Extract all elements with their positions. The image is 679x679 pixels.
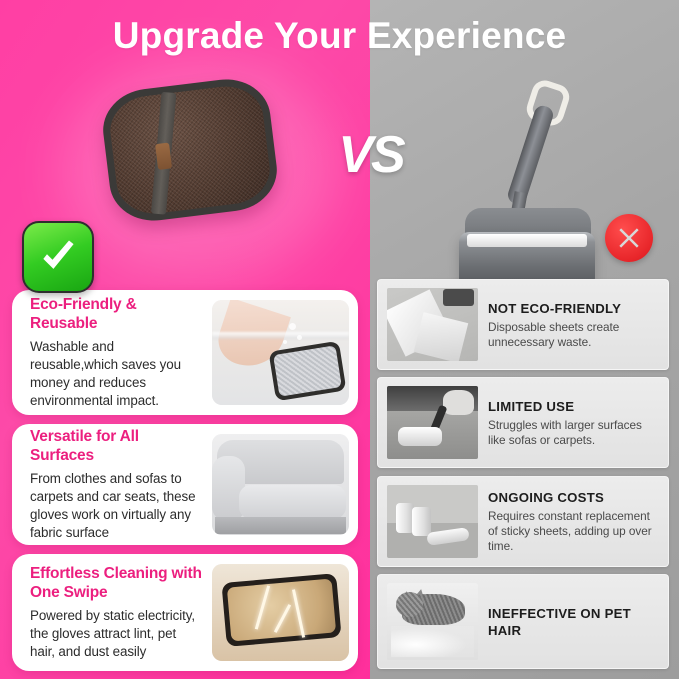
x-icon <box>605 214 653 262</box>
con-card-title: NOT ECO-FRIENDLY <box>488 300 656 317</box>
pro-card-title: Effortless Cleaning with One Swipe <box>30 564 204 602</box>
con-card-title: ONGOING COSTS <box>488 489 656 506</box>
lint-roller-on-carpet-photo <box>387 386 478 459</box>
con-card-text: NOT ECO-FRIENDLY Disposable sheets creat… <box>488 300 668 350</box>
gray-fabric-sofa-photo <box>212 434 349 535</box>
con-card-body: Disposable sheets create unnecessary was… <box>488 320 656 350</box>
pro-card-text: Versatile for All Surfaces From clothes … <box>12 424 212 545</box>
con-card: NOT ECO-FRIENDLY Disposable sheets creat… <box>377 279 669 370</box>
con-card: INEFFECTIVE ON PET HAIR <box>377 574 669 669</box>
pro-card: Eco-Friendly & Reusable Washable and reu… <box>12 290 358 415</box>
con-card-body: Struggles with larger surfaces like sofa… <box>488 418 656 448</box>
con-card-text: ONGOING COSTS Requires constant replacem… <box>488 489 668 554</box>
pro-card-body: Washable and reusable,which saves you mo… <box>30 338 204 410</box>
glove-body <box>99 74 282 225</box>
roller-sheet-edge <box>467 234 587 247</box>
cat-on-shedding-fur-photo <box>387 583 478 660</box>
con-card-body: Requires constant replacement of sticky … <box>488 509 656 554</box>
pro-card-title: Versatile for All Surfaces <box>30 427 204 465</box>
product-image-lint-roller <box>455 82 605 257</box>
pro-card: Versatile for All Surfaces From clothes … <box>12 424 358 545</box>
refill-roller-tubes-photo <box>387 485 478 558</box>
pro-card-text: Eco-Friendly & Reusable Washable and reu… <box>12 290 212 415</box>
con-card-text: LIMITED USE Struggles with larger surfac… <box>488 398 668 448</box>
pro-card: Effortless Cleaning with One Swipe Power… <box>12 554 358 671</box>
pro-card-body: Powered by static electricity, the glove… <box>30 607 204 661</box>
con-card-title: INEFFECTIVE ON PET HAIR <box>488 605 656 639</box>
pro-card-text: Effortless Cleaning with One Swipe Power… <box>12 554 212 671</box>
pro-card-title: Eco-Friendly & Reusable <box>30 295 204 333</box>
glove-texture <box>106 82 273 218</box>
static-electricity-pad-photo <box>212 564 349 661</box>
check-icon <box>22 221 94 293</box>
con-card: LIMITED USE Struggles with larger surfac… <box>377 377 669 468</box>
vs-badge: VS <box>323 124 419 186</box>
crumpled-sticky-sheets-photo <box>387 288 478 361</box>
con-card-title: LIMITED USE <box>488 398 656 415</box>
page-title: Upgrade Your Experience <box>0 14 679 58</box>
roller-handle <box>506 104 556 207</box>
comparison-infographic: Upgrade Your Experience VS Eco-Friendly … <box>0 0 679 679</box>
product-image-glove <box>99 74 282 225</box>
con-card-text: INEFFECTIVE ON PET HAIR <box>488 605 668 639</box>
con-card: ONGOING COSTS Requires constant replacem… <box>377 476 669 567</box>
glove-tab <box>155 143 172 171</box>
pro-card-body: From clothes and sofas to carpets and ca… <box>30 470 204 542</box>
hand-washing-pad-in-water-photo <box>212 300 349 405</box>
